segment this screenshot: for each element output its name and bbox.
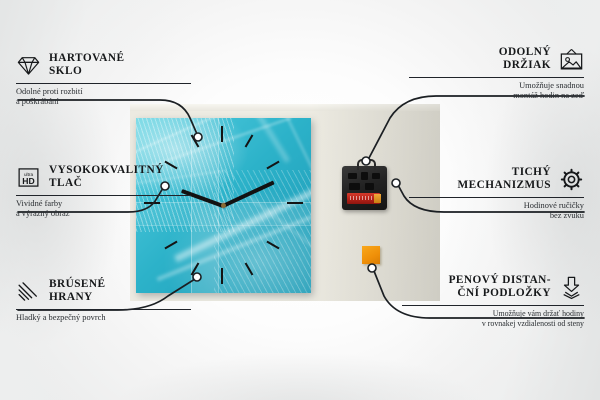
feature-header: ODOLNÝ DRŽIAK bbox=[409, 46, 584, 73]
feature-header: HARTOVANÉ SKLO bbox=[16, 52, 191, 79]
feature-description: Odolné proti rozbití a poškrábání bbox=[16, 87, 191, 108]
feature-description: Umožňuje snadnou montáž hodin na zeď bbox=[409, 81, 584, 102]
feature-description: Hladký a bezpečný povrch bbox=[16, 313, 191, 324]
callout-dot bbox=[362, 157, 370, 165]
feature-tempered-glass: HARTOVANÉ SKLO Odolné proti rozbití a po… bbox=[16, 52, 191, 108]
feature-divider bbox=[409, 77, 584, 78]
feature-title: HARTOVANÉ SKLO bbox=[49, 52, 124, 79]
feature-divider bbox=[16, 309, 191, 310]
feature-title: VYSOKOKVALITNÝ TLAČ bbox=[49, 164, 164, 191]
feature-divider bbox=[409, 197, 584, 198]
feature-ground-edges: BRÚSENÉ HRANY Hladký a bezpečný povrch bbox=[16, 278, 191, 323]
picture-frame-hanger-icon bbox=[559, 47, 584, 72]
feature-divider bbox=[16, 83, 191, 84]
feature-title: TICHÝ MECHANIZMUS bbox=[458, 166, 551, 193]
svg-text:HD: HD bbox=[22, 176, 34, 186]
feature-high-quality-print: ultra HD VYSOKOKVALITNÝ TLAČ Vividné far… bbox=[16, 164, 191, 220]
feature-description: Umožňuje vám držať hodiny v rovnakej vzd… bbox=[402, 309, 584, 329]
feature-header: TICHÝ MECHANIZMUS bbox=[409, 166, 584, 193]
feature-durable-holder: ODOLNÝ DRŽIAK Umožňuje snadnou montáž ho… bbox=[409, 46, 584, 102]
feature-header: PENOVÝ DISTAN- ČNÍ PODLOŽKY bbox=[402, 274, 584, 301]
infographic-canvas: HARTOVANÉ SKLO Odolné proti rozbití a po… bbox=[0, 0, 600, 400]
callout-dot bbox=[193, 273, 201, 281]
callout-dot bbox=[368, 264, 376, 272]
callout-dot bbox=[392, 179, 400, 187]
callout-dot bbox=[194, 133, 202, 141]
feature-divider bbox=[402, 305, 584, 306]
feature-divider bbox=[16, 195, 191, 196]
feature-header: ultra HD VYSOKOKVALITNÝ TLAČ bbox=[16, 164, 191, 191]
diamond-icon bbox=[16, 53, 41, 78]
stacked-arrow-down-icon bbox=[559, 275, 584, 300]
feature-description: Vividné farby a výrazný obraz bbox=[16, 199, 191, 220]
feature-silent-mechanism: TICHÝ MECHANIZMUS Hodinové ručičky bez z… bbox=[409, 166, 584, 222]
feature-title: PENOVÝ DISTAN- ČNÍ PODLOŽKY bbox=[449, 274, 551, 301]
gear-icon bbox=[559, 167, 584, 192]
feature-title: ODOLNÝ DRŽIAK bbox=[499, 46, 551, 73]
feature-description: Hodinové ručičky bez zvuku bbox=[409, 201, 584, 222]
feature-foam-spacers: PENOVÝ DISTAN- ČNÍ PODLOŽKY Umožňuje vám… bbox=[402, 274, 584, 329]
ground-edges-icon bbox=[16, 279, 41, 304]
ultra-hd-icon: ultra HD bbox=[16, 165, 41, 190]
feature-header: BRÚSENÉ HRANY bbox=[16, 278, 191, 305]
feature-title: BRÚSENÉ HRANY bbox=[49, 278, 106, 305]
